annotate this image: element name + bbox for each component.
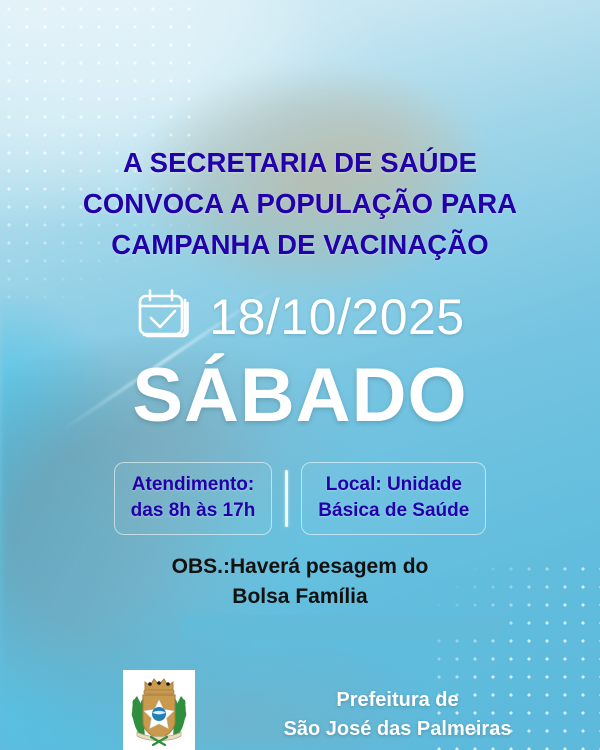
footer-line-2: São José das Palmeiras bbox=[205, 715, 590, 744]
info-divider bbox=[285, 470, 288, 527]
service-hours-box: Atendimento: das 8h às 17h bbox=[114, 462, 273, 535]
info-row: Atendimento: das 8h às 17h Local: Unidad… bbox=[0, 462, 600, 535]
observation-line-2: Bolsa Família bbox=[0, 582, 600, 612]
location-label: Local: Unidade bbox=[318, 472, 469, 498]
headline: A SECRETARIA DE SAÚDE CONVOCA A POPULAÇÃ… bbox=[0, 142, 600, 265]
headline-line-2: CONVOCA A POPULAÇÃO PARA bbox=[0, 183, 600, 224]
location-value: Básica de Saúde bbox=[318, 498, 469, 524]
footer: Prefeitura de São José das Palmeiras bbox=[0, 662, 600, 750]
headline-line-1: A SECRETARIA DE SAÚDE bbox=[0, 142, 600, 183]
service-hours-value: das 8h às 17h bbox=[131, 498, 256, 524]
location-box: Local: Unidade Básica de Saúde bbox=[301, 462, 486, 535]
calendar-check-icon bbox=[135, 286, 197, 348]
poster-content: A SECRETARIA DE SAÚDE CONVOCA A POPULAÇÃ… bbox=[0, 0, 600, 750]
crest-background bbox=[123, 670, 195, 750]
vaccination-campaign-poster: A SECRETARIA DE SAÚDE CONVOCA A POPULAÇÃ… bbox=[0, 0, 600, 750]
service-hours-label: Atendimento: bbox=[131, 472, 256, 498]
observation-line-1: OBS.:Haverá pesagem do bbox=[0, 552, 600, 582]
decorative-strip bbox=[182, 615, 502, 638]
date-row: 18/10/2025 bbox=[0, 286, 600, 348]
municipality-name: Prefeitura de São José das Palmeiras bbox=[205, 686, 590, 744]
observation-note: OBS.:Haverá pesagem do Bolsa Família bbox=[0, 552, 600, 612]
municipal-coat-of-arms-icon bbox=[127, 674, 191, 746]
headline-line-3: CAMPANHA DE VACINAÇÃO bbox=[0, 224, 600, 265]
campaign-date: 18/10/2025 bbox=[209, 292, 464, 342]
footer-line-1: Prefeitura de bbox=[205, 686, 590, 715]
campaign-weekday: SÁBADO bbox=[0, 358, 600, 434]
